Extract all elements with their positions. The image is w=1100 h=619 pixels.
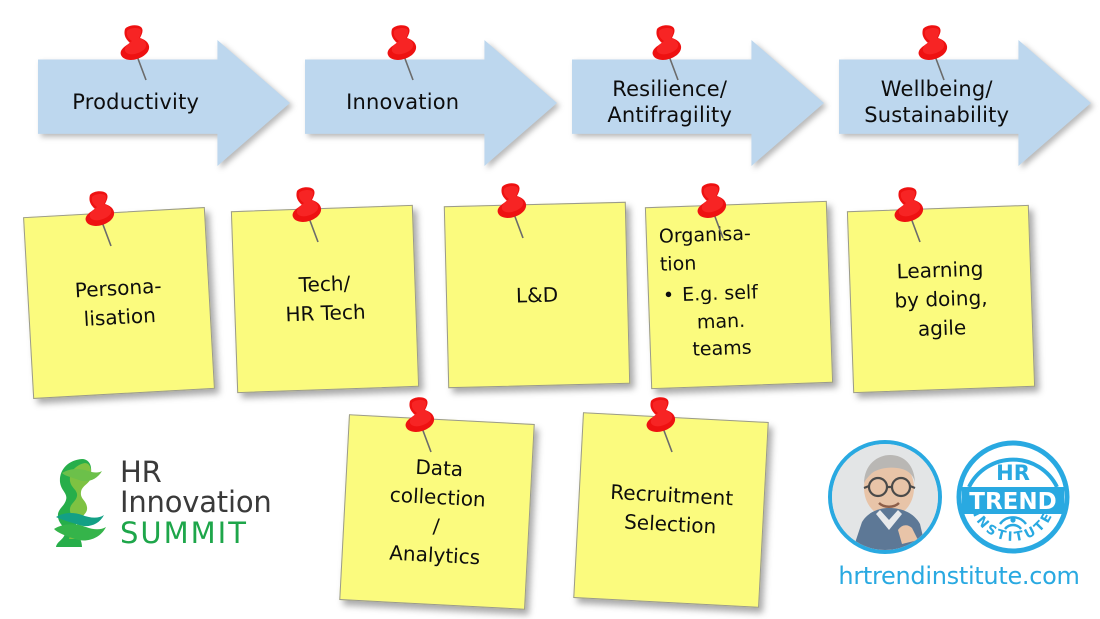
sticky-note-text-organisation: Organisa- tion•E.g. self man. teams — [646, 216, 768, 370]
sticky-note-text-data-collection: Data collection / Analytics — [378, 447, 496, 577]
process-arrow-innovation[interactable]: Innovation — [305, 40, 557, 166]
hr-innovation-summit-logo: HR Innovation SUMMIT — [52, 455, 317, 550]
sticky-note-text-personalisation: Persona- lisation — [66, 267, 172, 339]
brand-website-url: hrtrendinstitute.com — [828, 562, 1090, 590]
sticky-note-recruitment-selection[interactable]: Recruitment Selection — [573, 412, 768, 607]
green-head-logo-icon — [52, 457, 108, 549]
sticky-note-learning-by-doing[interactable]: Learning by doing, agile — [847, 205, 1035, 393]
sticky-note-data-collection[interactable]: Data collection / Analytics — [339, 414, 534, 609]
person-photo-avatar — [828, 440, 942, 554]
brand-logos-row: HR TREND INSTITUTE — [828, 438, 1090, 556]
hr-trend-institute-branding: HR TREND INSTITUTE hrtrendinstitute.com — [828, 438, 1090, 603]
process-arrow-resilience[interactable]: Resilience/ Antifragility — [572, 40, 824, 166]
bullet-dot-icon: • — [663, 282, 675, 310]
hr-innovation-summit-wordmark: HR Innovation SUMMIT — [120, 457, 317, 547]
hr-trend-institute-badge-icon: HR TREND INSTITUTE — [956, 440, 1070, 554]
process-arrow-productivity[interactable]: Productivity — [38, 40, 290, 166]
sticky-note-bullet-text-organisation: E.g. self man. teams — [682, 279, 761, 364]
sticky-note-l-and-d[interactable]: L&D — [444, 202, 630, 388]
svg-text:HR: HR — [996, 461, 1030, 485]
sticky-note-heading-organisation: Organisa- tion — [659, 223, 752, 276]
hris-line-2: SUMMIT — [120, 518, 317, 548]
hris-line-1: HR Innovation — [120, 457, 317, 517]
sticky-note-tech-hr-tech[interactable]: Tech/ HR Tech — [231, 205, 419, 393]
sticky-note-organisation[interactable]: Organisa- tion•E.g. self man. teams — [645, 201, 833, 389]
avatar-illustration-icon — [832, 444, 942, 554]
sticky-note-text-learning-by-doing: Learning by doing, agile — [885, 250, 997, 349]
sticky-note-text-tech-hr-tech: Tech/ HR Tech — [276, 264, 374, 333]
process-arrow-wellbeing[interactable]: Wellbeing/ Sustainability — [839, 40, 1091, 166]
sticky-note-personalisation[interactable]: Persona- lisation — [23, 207, 215, 399]
sticky-note-text-l-and-d: L&D — [507, 276, 566, 314]
sticky-note-text-recruitment-selection: Recruitment Selection — [600, 473, 742, 546]
